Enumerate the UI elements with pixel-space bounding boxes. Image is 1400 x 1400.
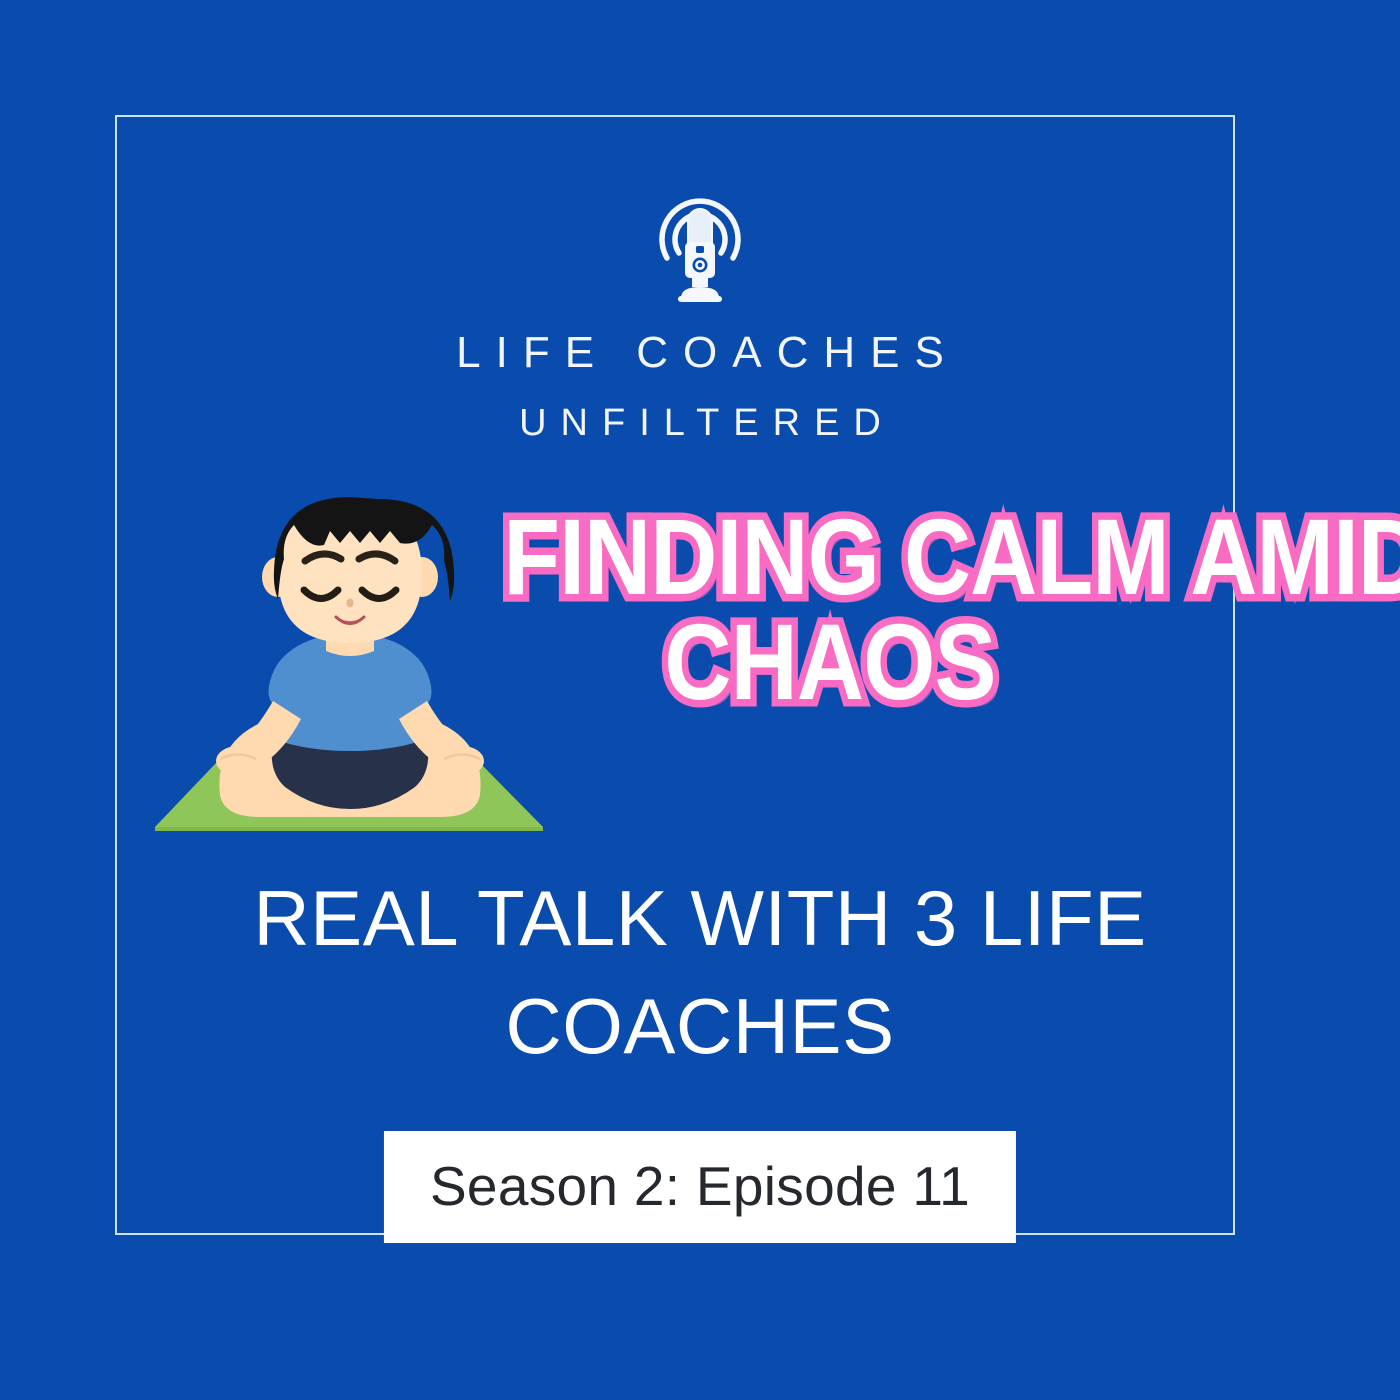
show-title-line-1: LIFE COACHES <box>0 330 1400 376</box>
show-title: LIFE COACHES UNFILTERED <box>0 330 1400 444</box>
episode-title: FINDING CALM AMID CHAOS <box>503 505 1157 715</box>
podcast-logo <box>0 186 1400 306</box>
podcast-microphone-icon <box>645 186 755 306</box>
show-title-line-2: UNFILTERED <box>0 404 1400 444</box>
episode-title-line-1: FINDING CALM AMID <box>503 505 1157 610</box>
episode-subtitle: REAL TALK WITH 3 LIFE COACHES <box>170 865 1230 1080</box>
person-meditating-lotus-illustration <box>150 495 550 840</box>
podcast-cover-art: LIFE COACHES UNFILTERED <box>0 0 1400 1400</box>
season-episode-badge: Season 2: Episode 11 <box>384 1131 1016 1243</box>
episode-title-line-2: CHAOS <box>503 610 1157 715</box>
episode-subtitle-line-1: REAL TALK WITH 3 LIFE <box>170 865 1230 973</box>
head <box>262 497 454 643</box>
episode-subtitle-line-2: COACHES <box>170 973 1230 1081</box>
